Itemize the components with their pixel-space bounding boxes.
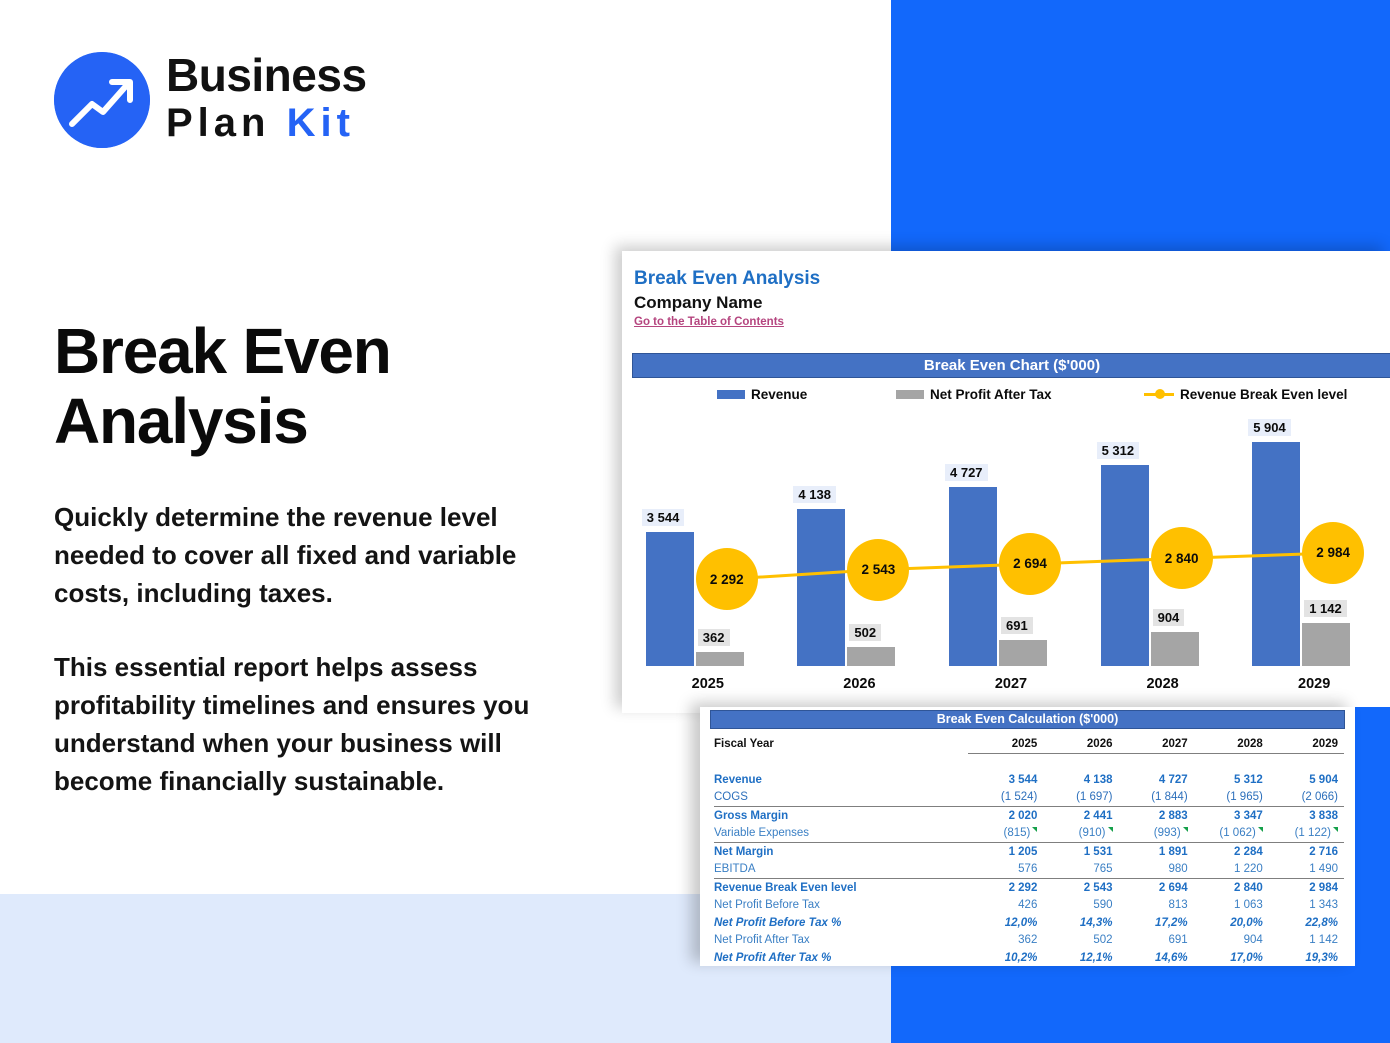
table-header-year-2025: 2025	[968, 735, 1043, 753]
table-row: Net Profit After Tax %10,2%12,1%14,6%17,…	[714, 949, 1344, 966]
background-strip-right	[1355, 707, 1390, 966]
table-cell[interactable]: 362	[968, 932, 1043, 950]
table-row: Net Profit Before Tax %12,0%14,3%17,2%20…	[714, 914, 1344, 932]
break-even-bubble-2026[interactable]: 2 543	[847, 539, 909, 601]
table-cell[interactable]: 2 984	[1269, 879, 1344, 897]
break-even-bubble-2029[interactable]: 2 984	[1302, 522, 1364, 584]
table-cell[interactable]: 2 284	[1194, 843, 1269, 861]
table-cell[interactable]: 1 205	[968, 843, 1043, 861]
table-cell[interactable]: 1 142	[1269, 932, 1344, 950]
break-even-bubble-2027[interactable]: 2 694	[999, 533, 1061, 595]
growth-arrow-icon	[54, 52, 150, 148]
table-header-row: Fiscal Year 20252026202720282029	[714, 735, 1344, 753]
table-row: Revenue Break Even level2 2922 5432 6942…	[714, 879, 1344, 897]
table-cell[interactable]: 1 220	[1194, 861, 1269, 879]
table-row-label: Net Profit Before Tax %	[714, 914, 968, 932]
table-cell[interactable]: 1 490	[1269, 861, 1344, 879]
legend-item-break-even-level[interactable]: Revenue Break Even level	[1144, 383, 1347, 405]
table-cell[interactable]: 980	[1119, 861, 1194, 879]
x-axis-tick-2025: 2025	[634, 676, 782, 692]
legend-item-net-profit-after-tax[interactable]: Net Profit After Tax	[896, 383, 1052, 405]
legend-line-break-even-icon	[1144, 393, 1174, 396]
table-cell[interactable]: 4 138	[1043, 771, 1118, 789]
table-cell[interactable]: (1 122)	[1269, 825, 1344, 843]
comment-flag-icon	[1258, 827, 1263, 832]
table-cell[interactable]: 3 347	[1194, 807, 1269, 825]
legend-label-break-even-level: Revenue Break Even level	[1180, 387, 1347, 402]
table-cell[interactable]: 2 840	[1194, 879, 1269, 897]
table-cell[interactable]: 17,0%	[1194, 949, 1269, 966]
table-row-label: Revenue Break Even level	[714, 879, 968, 897]
table-row-label: Net Profit After Tax	[714, 932, 968, 950]
table-cell[interactable]: (2 066)	[1269, 789, 1344, 807]
table-row: Net Margin1 2051 5311 8912 2842 716	[714, 843, 1344, 861]
chart-plot-area: 3 5443624 1385024 7276915 3129045 9041 1…	[632, 416, 1390, 666]
sheet-title: Break Even Analysis	[634, 268, 820, 290]
table-cell[interactable]: 691	[1119, 932, 1194, 950]
table-head: Fiscal Year 20252026202720282029	[714, 735, 1344, 753]
table-cell[interactable]: 12,1%	[1043, 949, 1118, 966]
comment-flag-icon	[1032, 827, 1037, 832]
table-body: Revenue3 5444 1384 7275 3125 904COGS(1 5…	[714, 753, 1344, 966]
table-cell[interactable]: 765	[1043, 861, 1118, 879]
background-panel-bottom-right	[891, 966, 1390, 1043]
x-axis-tick-2029: 2029	[1240, 676, 1388, 692]
table-cell[interactable]: 19,3%	[1269, 949, 1344, 966]
table-banner-label: Break Even Calculation ($'000)	[711, 711, 1344, 728]
table-cell[interactable]: (910)	[1043, 825, 1118, 843]
brand-logo: Business Plan Kit	[54, 52, 434, 154]
table-cell[interactable]: 2 441	[1043, 807, 1118, 825]
chart-banner: Break Even Chart ($'000)	[632, 353, 1390, 378]
table-cell[interactable]: 2 543	[1043, 879, 1118, 897]
table-header-year-2028: 2028	[1194, 735, 1269, 753]
table-cell[interactable]: (993)	[1119, 825, 1194, 843]
table-banner: Break Even Calculation ($'000)	[710, 710, 1345, 729]
table-cell[interactable]: 904	[1194, 932, 1269, 950]
table-cell[interactable]: 10,2%	[968, 949, 1043, 966]
table-cell[interactable]: 1 531	[1043, 843, 1118, 861]
table-row-label: Net Margin	[714, 843, 968, 861]
x-axis-tick-2026: 2026	[785, 676, 933, 692]
table-cell[interactable]: 2 883	[1119, 807, 1194, 825]
comment-flag-icon	[1108, 827, 1113, 832]
table-header-fiscal-year: Fiscal Year	[714, 735, 968, 753]
hero-paragraph-1: Quickly determine the revenue level need…	[54, 498, 564, 612]
table-cell[interactable]: 576	[968, 861, 1043, 879]
table-cell[interactable]: (1 062)	[1194, 825, 1269, 843]
break-even-calculation-card: Break Even Calculation ($'000) Fiscal Ye…	[700, 707, 1355, 966]
table-row-label: EBITDA	[714, 861, 968, 879]
table-cell[interactable]: 1 063	[1194, 897, 1269, 915]
table-cell[interactable]: 3 544	[968, 771, 1043, 789]
table-cell[interactable]: 1 891	[1119, 843, 1194, 861]
table-row-label: Net Profit Before Tax	[714, 897, 968, 915]
chart-x-axis: 20252026202720282029	[632, 676, 1390, 700]
table-cell[interactable]: 12,0%	[968, 914, 1043, 932]
x-axis-tick-2027: 2027	[937, 676, 1085, 692]
table-cell[interactable]: 5 312	[1194, 771, 1269, 789]
legend-swatch-net-profit-icon	[896, 390, 924, 399]
table-spacer-row	[714, 753, 1344, 771]
break-even-calculation-table: Fiscal Year 20252026202720282029 Revenue…	[714, 735, 1344, 966]
chart-legend: Revenue Net Profit After Tax Revenue Bre…	[632, 383, 1390, 405]
table-of-contents-link[interactable]: Go to the Table of Contents	[634, 316, 784, 328]
table-row-label: Variable Expenses	[714, 825, 968, 843]
comment-flag-icon	[1333, 827, 1338, 832]
table-cell[interactable]: 22,8%	[1269, 914, 1344, 932]
table-cell[interactable]: 813	[1119, 897, 1194, 915]
table-cell[interactable]: (1 697)	[1043, 789, 1118, 807]
chart-banner-label: Break Even Chart ($'000)	[633, 354, 1390, 377]
legend-label-net-profit-after-tax: Net Profit After Tax	[930, 387, 1052, 402]
table-cell[interactable]: 4 727	[1119, 771, 1194, 789]
table-row: Net Profit Before Tax4265908131 0631 343	[714, 897, 1344, 915]
table-cell[interactable]: 3 838	[1269, 807, 1344, 825]
page-title: Break Even Analysis	[54, 316, 574, 456]
table-row: COGS(1 524)(1 697)(1 844)(1 965)(2 066)	[714, 789, 1344, 807]
table-cell[interactable]: 14,6%	[1119, 949, 1194, 966]
legend-label-revenue: Revenue	[751, 387, 807, 402]
table-cell[interactable]: 1 343	[1269, 897, 1344, 915]
table-cell[interactable]: 2 292	[968, 879, 1043, 897]
hero-paragraph-2: This essential report helps assess profi…	[54, 648, 574, 800]
table-row: Net Profit After Tax3625026919041 142	[714, 932, 1344, 950]
table-row: Variable Expenses(815)(910)(993)(1 062)(…	[714, 825, 1344, 843]
table-row: Revenue3 5444 1384 7275 3125 904	[714, 771, 1344, 789]
table-cell[interactable]: 14,3%	[1043, 914, 1118, 932]
table-row-label: Gross Margin	[714, 807, 968, 825]
break-even-chart-card: Break Even Analysis Company Name Go to t…	[622, 251, 1390, 713]
legend-item-revenue[interactable]: Revenue	[717, 383, 807, 405]
table-cell[interactable]: 590	[1043, 897, 1118, 915]
x-axis-tick-2028: 2028	[1089, 676, 1237, 692]
table-cell[interactable]: (1 524)	[968, 789, 1043, 807]
table-cell[interactable]: 2 716	[1269, 843, 1344, 861]
table-row-label: COGS	[714, 789, 968, 807]
comment-flag-icon	[1183, 827, 1188, 832]
table-cell[interactable]: (815)	[968, 825, 1043, 843]
table-cell[interactable]: (1 965)	[1194, 789, 1269, 807]
break-even-bubble-2028[interactable]: 2 840	[1151, 527, 1213, 589]
brand-word-kit: Kit	[287, 101, 355, 145]
background-panel-top-right	[891, 0, 1390, 258]
table-header-year-2026: 2026	[1043, 735, 1118, 753]
table-row: EBITDA5767659801 2201 490	[714, 861, 1344, 879]
table-cell[interactable]: 2 020	[968, 807, 1043, 825]
table-row-label: Net Profit After Tax %	[714, 949, 968, 966]
table-cell[interactable]: 426	[968, 897, 1043, 915]
break-even-bubble-2025[interactable]: 2 292	[696, 548, 758, 610]
table-cell[interactable]: 502	[1043, 932, 1118, 950]
table-cell[interactable]: 17,2%	[1119, 914, 1194, 932]
table-cell[interactable]: 5 904	[1269, 771, 1344, 789]
table-cell[interactable]: (1 844)	[1119, 789, 1194, 807]
table-row-label: Revenue	[714, 771, 968, 789]
brand-name-line1: Business	[166, 50, 367, 100]
brand-name-line2: Plan Kit	[166, 100, 367, 146]
table-cell[interactable]: 2 694	[1119, 879, 1194, 897]
table-header-year-2029: 2029	[1269, 735, 1344, 753]
company-name: Company Name	[634, 293, 762, 313]
brand-word-plan: Plan	[166, 101, 270, 145]
table-header-year-2027: 2027	[1119, 735, 1194, 753]
table-row: Gross Margin2 0202 4412 8833 3473 838	[714, 807, 1344, 825]
legend-swatch-revenue-icon	[717, 390, 745, 399]
table-cell[interactable]: 20,0%	[1194, 914, 1269, 932]
